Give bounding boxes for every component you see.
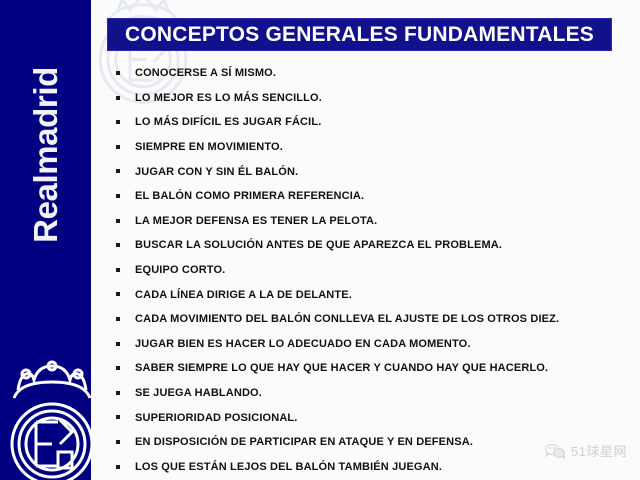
bullet-square-icon <box>116 317 120 321</box>
bullet-square-icon <box>116 465 120 469</box>
bullet-square-icon <box>116 120 120 124</box>
bullet-square-icon <box>116 342 120 346</box>
list-item-label: EL BALÓN COMO PRIMERA REFERENCIA. <box>135 190 364 202</box>
list-item: LO MEJOR ES LO MÁS SENCILLO. <box>112 86 622 111</box>
list-item: CADA LÍNEA DIRIGE A LA DE DELANTE. <box>112 282 622 307</box>
list-item-label: JUGAR CON Y SIN ÉL BALÓN. <box>135 166 298 178</box>
bullet-square-icon <box>116 415 120 419</box>
list-item-label: EN DISPOSICIÓN DE PARTICIPAR EN ATAQUE Y… <box>135 436 473 448</box>
bullet-square-icon <box>116 366 120 370</box>
bullet-square-icon <box>116 145 120 149</box>
bullet-square-icon <box>116 71 120 75</box>
list-item-label: LA MEJOR DEFENSA ES TENER LA PELOTA. <box>135 215 377 227</box>
bullet-square-icon <box>116 169 120 173</box>
bullet-square-icon <box>116 243 120 247</box>
list-item: LO MÁS DIFÍCIL ES JUGAR FÁCIL. <box>112 110 622 135</box>
bullet-list: CONOCERSE A SÍ MISMO. LO MEJOR ES LO MÁS… <box>112 61 622 479</box>
list-item: JUGAR CON Y SIN ÉL BALÓN. <box>112 159 622 184</box>
list-item: JUGAR BIEN ES HACER LO ADECUADO EN CADA … <box>112 332 622 357</box>
list-item: CADA MOVIMIENTO DEL BALÓN CONLLEVA EL AJ… <box>112 307 622 332</box>
bullet-square-icon <box>116 194 120 198</box>
real-madrid-crest-icon <box>4 360 100 480</box>
list-item-label: JUGAR BIEN ES HACER LO ADECUADO EN CADA … <box>135 338 471 350</box>
list-item: LA MEJOR DEFENSA ES TENER LA PELOTA. <box>112 209 622 234</box>
list-item-label: SABER SIEMPRE LO QUE HAY QUE HACER Y CUA… <box>135 362 548 374</box>
bullet-square-icon <box>116 440 120 444</box>
list-item: EQUIPO CORTO. <box>112 258 622 283</box>
list-item-label: LOS QUE ESTÁN LEJOS DEL BALÓN TAMBIÉN JU… <box>135 461 442 473</box>
slide-canvas: Realmadrid CONCEPTOS GENERALE <box>0 0 640 480</box>
sidebar: Realmadrid <box>0 0 91 480</box>
site-watermark-label: 51球星网 <box>571 441 627 460</box>
list-item-label: LO MEJOR ES LO MÁS SENCILLO. <box>135 92 322 104</box>
list-item: EL BALÓN COMO PRIMERA REFERENCIA. <box>112 184 622 209</box>
list-item-label: LO MÁS DIFÍCIL ES JUGAR FÁCIL. <box>135 116 321 128</box>
list-item-label: CADA MOVIMIENTO DEL BALÓN CONLLEVA EL AJ… <box>135 313 559 325</box>
list-item-label: SE JUEGA HABLANDO. <box>135 387 262 399</box>
list-item-label: CADA LÍNEA DIRIGE A LA DE DELANTE. <box>135 289 352 301</box>
list-item: SABER SIEMPRE LO QUE HAY QUE HACER Y CUA… <box>112 356 622 381</box>
slide-title-banner: CONCEPTOS GENERALES FUNDAMENTALES <box>107 18 612 51</box>
list-item: BUSCAR LA SOLUCIÓN ANTES DE QUE APAREZCA… <box>112 233 622 258</box>
list-item: SE JUEGA HABLANDO. <box>112 381 622 406</box>
site-watermark: 51球星网 <box>544 441 627 460</box>
bullet-square-icon <box>116 96 120 100</box>
sidebar-brand: Realmadrid <box>0 0 91 310</box>
brand-label: Realmadrid <box>27 67 65 243</box>
bullet-square-icon <box>116 219 120 223</box>
list-item-label: BUSCAR LA SOLUCIÓN ANTES DE QUE APAREZCA… <box>135 239 502 251</box>
list-item-label: EQUIPO CORTO. <box>135 264 225 276</box>
list-item-label: SIEMPRE EN MOVIMIENTO. <box>135 141 283 153</box>
list-item: CONOCERSE A SÍ MISMO. <box>112 61 622 86</box>
slide-title: CONCEPTOS GENERALES FUNDAMENTALES <box>125 23 594 47</box>
list-item: SUPERIORIDAD POSICIONAL. <box>112 405 622 430</box>
list-item-label: CONOCERSE A SÍ MISMO. <box>135 67 276 79</box>
bullet-square-icon <box>116 391 120 395</box>
list-item-label: SUPERIORIDAD POSICIONAL. <box>135 412 298 424</box>
wechat-icon <box>544 443 566 459</box>
bullet-square-icon <box>116 292 120 296</box>
bullet-square-icon <box>116 268 120 272</box>
list-item: SIEMPRE EN MOVIMIENTO. <box>112 135 622 160</box>
